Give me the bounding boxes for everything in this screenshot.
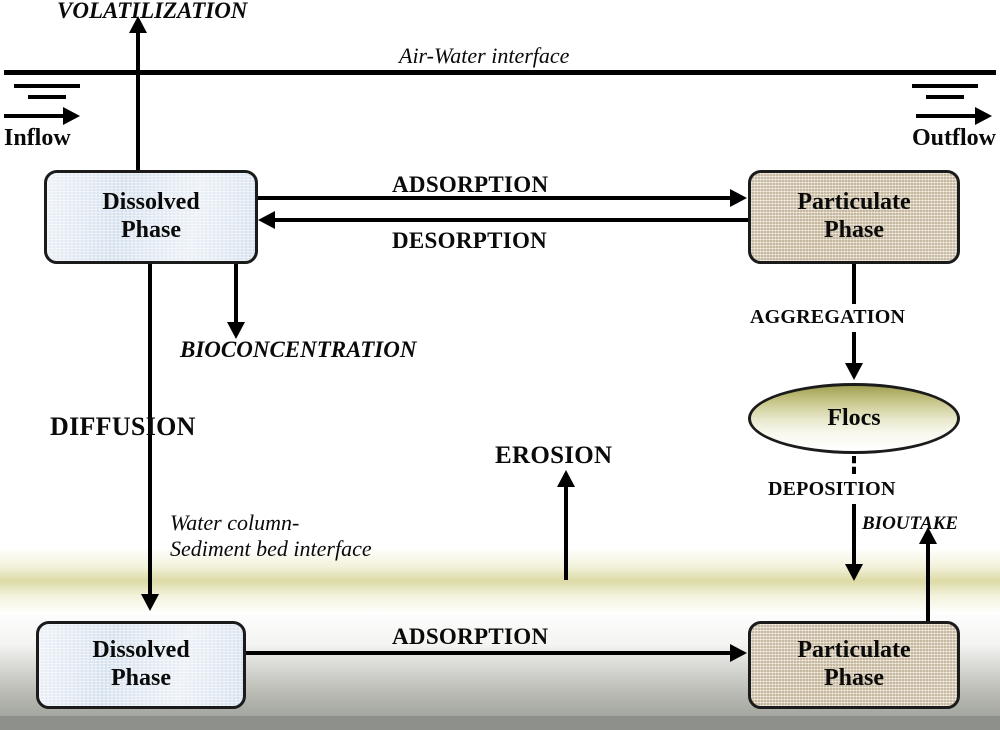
sediment-bed-base-strip [0, 716, 1000, 730]
air-water-interface-label: Air-Water interface [399, 43, 569, 69]
air-water-interface-line [4, 70, 996, 75]
aggregation-arrow-shaft-upper [852, 264, 856, 304]
node-water-particulate-phase-label: Particulate Phase [797, 189, 910, 245]
aggregation-label: AGGREGATION [750, 306, 905, 329]
deposition-arrow-shaft-dashed [852, 456, 856, 474]
deposition-arrowhead [845, 564, 863, 581]
node-bed-dissolved-phase[interactable]: Dissolved Phase [36, 621, 246, 709]
adsorption-water-label: ADSORPTION [392, 172, 548, 198]
deposition-arrow-shaft-solid [852, 504, 856, 566]
aggregation-arrowhead [845, 363, 863, 380]
water-level-tick-left-short [28, 95, 66, 99]
diagram-canvas: Air-Water interface Inflow Outflow VOLAT… [0, 0, 1000, 730]
erosion-arrowhead [557, 470, 575, 487]
water-level-tick-left-long [14, 84, 80, 88]
water-level-tick-right-long [912, 84, 978, 88]
bioconcentration-arrow-shaft [234, 264, 238, 324]
node-bed-particulate-phase-label: Particulate Phase [797, 637, 910, 693]
deposition-label: DEPOSITION [768, 478, 896, 501]
adsorption-bed-arrow-shaft [246, 651, 731, 655]
water-sediment-interface-label: Water column- Sediment bed interface [170, 510, 372, 561]
adsorption-bed-label: ADSORPTION [392, 624, 548, 650]
desorption-water-arrowhead [258, 211, 275, 229]
erosion-arrow-shaft [564, 484, 568, 580]
node-water-dissolved-phase[interactable]: Dissolved Phase [44, 170, 258, 264]
outflow-label: Outflow [912, 125, 996, 152]
node-water-dissolved-phase-label: Dissolved Phase [102, 189, 199, 245]
node-water-particulate-phase[interactable]: Particulate Phase [748, 170, 960, 264]
node-flocs[interactable]: Flocs [748, 383, 960, 454]
inflow-arrowhead [63, 107, 80, 125]
diffusion-label: DIFFUSION [50, 412, 196, 442]
outflow-arrow-shaft [916, 114, 978, 118]
outflow-arrowhead [975, 107, 992, 125]
diffusion-arrowhead [141, 594, 159, 611]
node-flocs-label: Flocs [827, 405, 880, 432]
node-bed-dissolved-phase-label: Dissolved Phase [92, 637, 189, 693]
inflow-label: Inflow [4, 125, 71, 152]
bioutake-label: BIOUTAKE [862, 513, 958, 535]
desorption-water-label: DESORPTION [392, 228, 547, 254]
volatilization-label: VOLATILIZATION [57, 0, 247, 24]
bioconcentration-label: BIOCONCENTRATION [180, 337, 416, 363]
volatilization-arrow-shaft [136, 30, 140, 175]
adsorption-water-arrowhead [730, 189, 747, 207]
inflow-arrow-shaft [4, 114, 66, 118]
node-bed-particulate-phase[interactable]: Particulate Phase [748, 621, 960, 709]
aggregation-arrow-shaft-lower [852, 332, 856, 365]
adsorption-bed-arrowhead [730, 644, 747, 662]
water-level-tick-right-short [926, 95, 964, 99]
desorption-water-arrow-shaft [274, 218, 748, 222]
erosion-label: EROSION [495, 442, 612, 470]
